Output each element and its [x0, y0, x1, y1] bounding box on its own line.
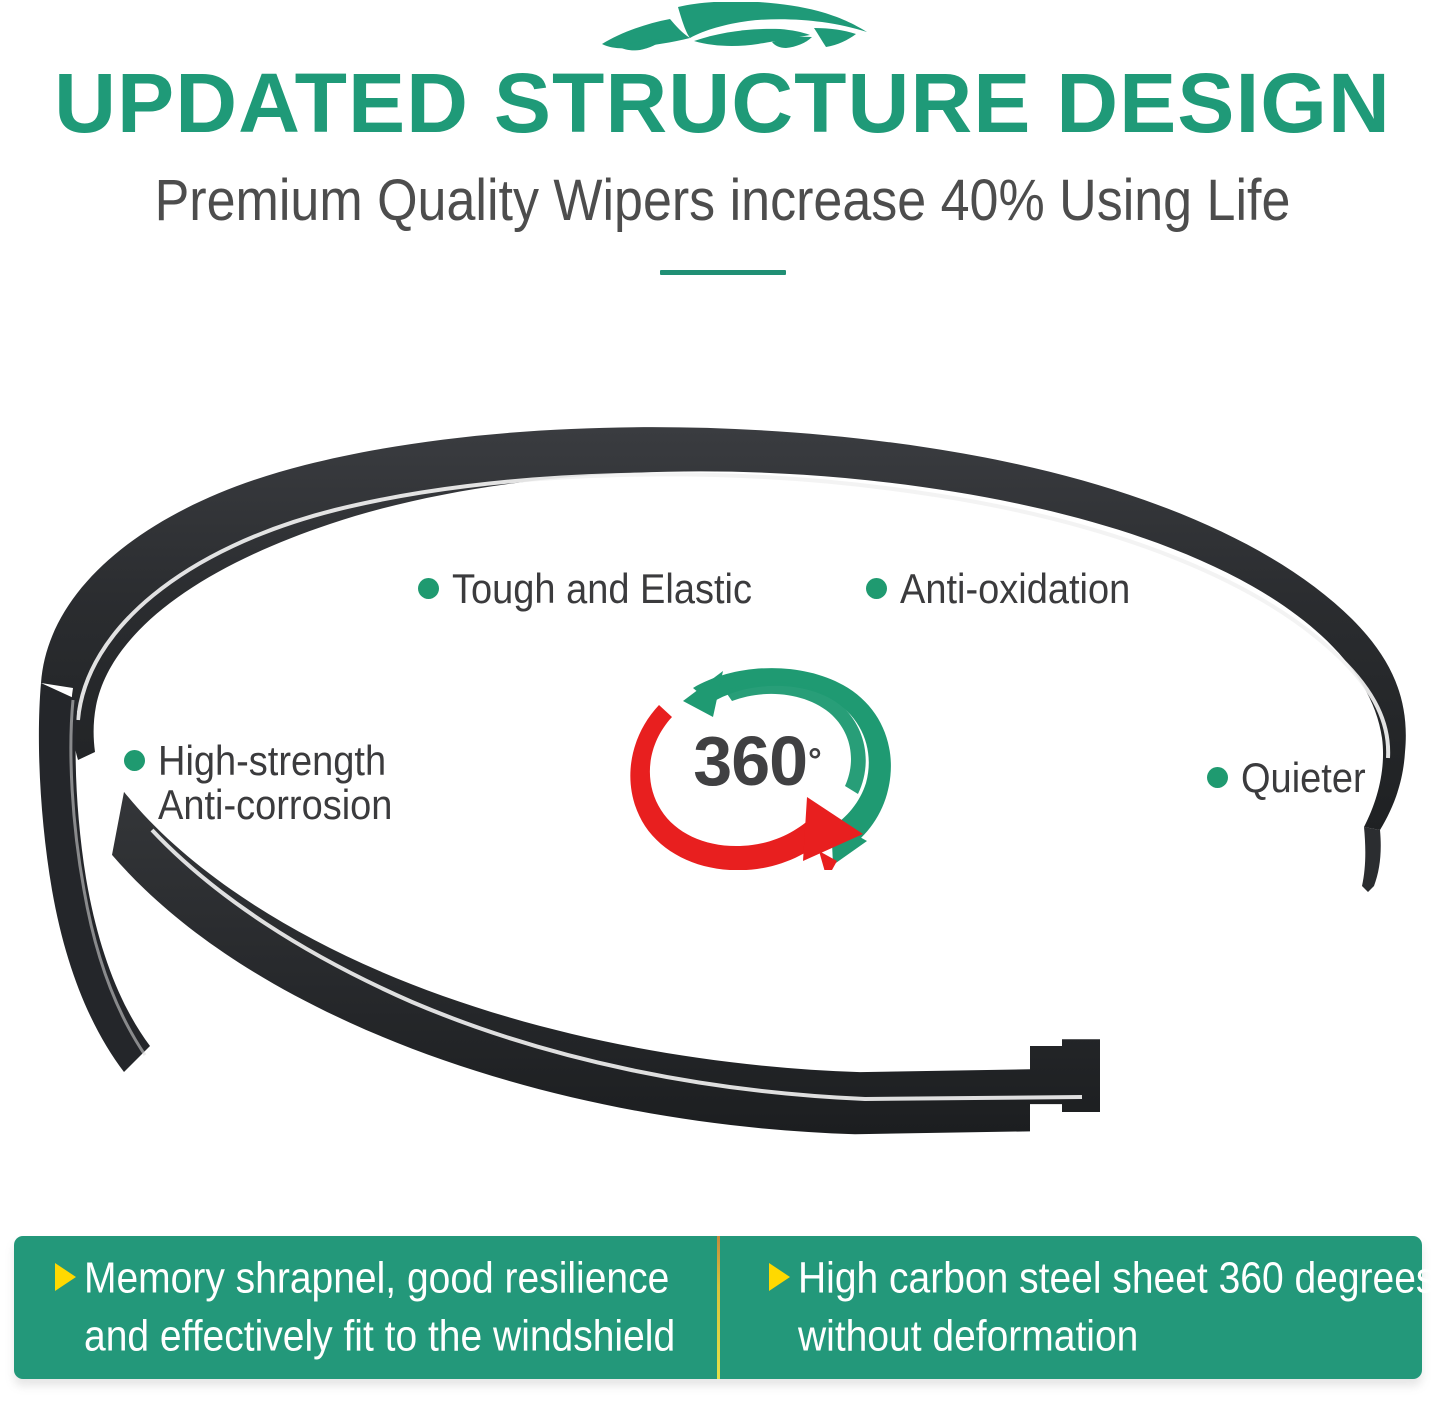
page-title: UPDATED STRUCTURE DESIGN: [0, 60, 1445, 146]
triangle-bullet-icon: [769, 1263, 790, 1291]
product-infographic: UPDATED STRUCTURE DESIGN Premium Quality…: [0, 0, 1445, 1421]
banner-panel-text: Memory shrapnel, good resilienceand effe…: [84, 1249, 675, 1365]
banner-panel-high-carbon-steel: High carbon steel sheet 360 degreeswitho…: [717, 1236, 1422, 1379]
feature-label: Quieter: [1241, 757, 1366, 801]
bullet-dot-icon: [1207, 767, 1228, 788]
car-silhouette-icon: [586, 2, 876, 60]
bullet-dot-icon: [124, 750, 145, 771]
badge-360-degree: 360°: [575, 655, 925, 870]
page-subtitle: Premium Quality Wipers increase 40% Usin…: [0, 166, 1445, 235]
feature-callout-high-strength-anti-corrosion: High-strengthAnti-corrosion: [124, 740, 392, 820]
banner-panel-text: High carbon steel sheet 360 degreeswitho…: [798, 1249, 1435, 1365]
feature-callout-quieter: Quieter: [1207, 757, 1366, 797]
bottom-feature-banner: Memory shrapnel, good resilienceand effe…: [14, 1236, 1422, 1379]
banner-text-line1: Memory shrapnel, good resilience: [84, 1254, 669, 1302]
banner-text-line2: without deformation: [798, 1308, 1435, 1366]
feature-label-line1: High-strength: [158, 739, 386, 785]
banner-text-line2: and effectively fit to the windshield: [84, 1308, 675, 1366]
bullet-dot-icon: [418, 578, 439, 599]
banner-text-line1: High carbon steel sheet 360 degrees: [798, 1254, 1435, 1302]
banner-panel-memory-shrapnel: Memory shrapnel, good resilienceand effe…: [14, 1236, 717, 1379]
title-underline-divider: [660, 270, 786, 275]
rotation-arrows-icon: [575, 655, 925, 870]
feature-callout-anti-oxidation: Anti-oxidation: [866, 568, 1130, 608]
feature-callout-tough-and-elastic: Tough and Elastic: [418, 568, 752, 608]
triangle-bullet-icon: [55, 1263, 76, 1291]
feature-label-line2: Anti-corrosion: [158, 784, 392, 828]
bullet-dot-icon: [866, 578, 887, 599]
feature-label: Anti-oxidation: [900, 568, 1130, 612]
feature-label: Tough and Elastic: [452, 568, 752, 612]
feature-label: High-strengthAnti-corrosion: [158, 740, 392, 828]
